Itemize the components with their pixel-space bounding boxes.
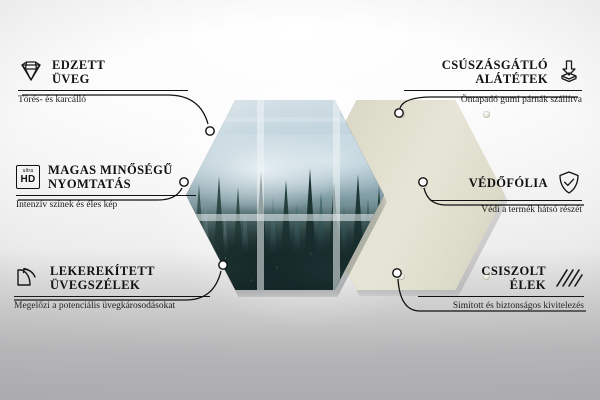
vignette-overlay (0, 0, 600, 400)
infographic-canvas: EDZETT ÜVEG Törés- és karcálló ultra HD … (0, 0, 600, 400)
